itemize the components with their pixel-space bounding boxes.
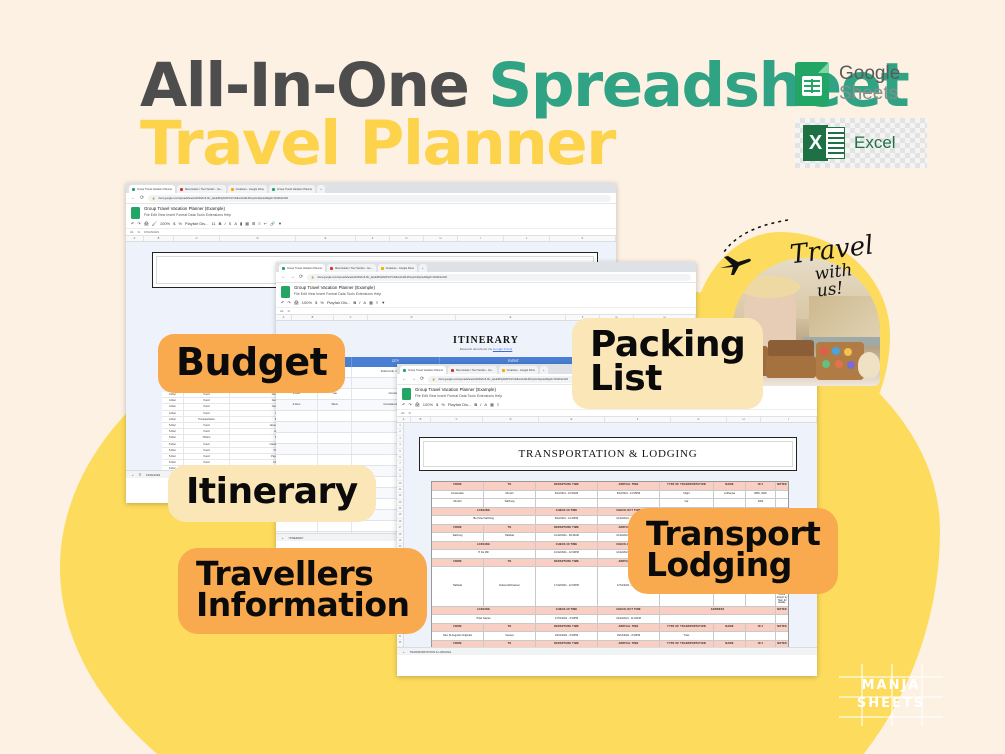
table-cell[interactable]: Food [184, 423, 230, 428]
table-cell[interactable]: 5-Dec [162, 448, 184, 453]
callout-label-travellers-line2: Information [196, 585, 409, 624]
table-cell[interactable]: Salzburg [484, 499, 536, 507]
table-cell[interactable]: Transportation [184, 417, 230, 422]
filter-icon[interactable]: ▼ [381, 300, 385, 305]
table-cell[interactable] [318, 532, 352, 533]
transport-banner: TRANSPORTATION & LODGING [419, 437, 797, 471]
column-header[interactable]: ADDRESS [660, 607, 776, 615]
table-cell[interactable]: 4-Dec [162, 417, 184, 422]
table-cell[interactable]: Food [184, 404, 230, 409]
column-header[interactable]: CHECK-IN TIME [536, 508, 598, 516]
table-cell[interactable]: 5-Dec [162, 435, 184, 440]
document-title[interactable]: Group Travel Vacation Planner (Example) [294, 285, 381, 290]
column-header[interactable]: DEPARTURE TIME [536, 525, 598, 533]
bold-icon[interactable]: B [353, 300, 356, 305]
table-cell[interactable]: IB+ Hotel Salzburg [432, 516, 536, 524]
table-cell[interactable]: Others [184, 435, 230, 440]
font-select[interactable]: Playfair Dis... [448, 402, 472, 407]
column-header[interactable]: TYPE OF TRANSPORTATION [660, 624, 714, 632]
watermark-line-1: MANJA [862, 677, 921, 695]
forward-icon[interactable]: → [411, 376, 416, 382]
table-cell[interactable]: 8/12/2021 - 12:00PM [536, 516, 598, 524]
table-cell[interactable] [776, 491, 788, 499]
table-cell[interactable]: 19/12/2021 - 11:00PM [598, 615, 660, 623]
table-row[interactable]: Hotel Savoie17/12/2021 - 3:00PM19/12/202… [432, 615, 788, 624]
excel-icon: X [803, 125, 845, 161]
name-box[interactable]: A1 [401, 411, 405, 415]
table-cell[interactable] [276, 422, 318, 432]
column-header[interactable]: NOTES [776, 607, 788, 615]
table-cell[interactable]: Hotel Savoie [432, 615, 536, 623]
browser-tab[interactable]: Group Travel Vacation Planner [279, 264, 325, 272]
title-line-two: Travel Planner [140, 116, 908, 172]
add-sheet-icon[interactable]: + [132, 473, 134, 477]
table-cell[interactable] [276, 532, 318, 533]
sheets-header: Group Travel Vacation Planner (Example) … [276, 283, 696, 298]
table-cell[interactable]: 5-Dec [162, 429, 184, 434]
browser-tab[interactable]: Creatives - Google Drive [378, 264, 417, 272]
formula-input[interactable]: FINANCES [144, 230, 159, 234]
excel-label: Excel [854, 133, 896, 153]
table-cell[interactable]: Food [184, 448, 230, 453]
table-row[interactable]: AmsterdamMunich8/12/2021 - 10:50AM8/12/2… [432, 491, 788, 500]
table-cell[interactable] [276, 521, 318, 531]
brand-logos: Google Sheets X Excel [795, 62, 927, 168]
align-icon[interactable]: ≡ [258, 221, 260, 226]
table-cell[interactable] [318, 433, 352, 443]
currency-icon[interactable]: $ [315, 300, 317, 305]
travel-with-us-script: Travel with us! [789, 230, 900, 303]
table-cell[interactable]: 4-Dec [162, 411, 184, 416]
text-color-icon[interactable]: A [484, 402, 487, 407]
browser-url-bar[interactable]: ← → ⟳ 🔒 docs.google.com/spreadsheets/d/1… [276, 272, 696, 283]
back-icon[interactable]: ← [281, 274, 286, 280]
browser-tab[interactable]: Group Travel Vacation Planner [269, 185, 315, 193]
url-text: docs.google.com/spreadsheets/d/160An5-f4… [438, 378, 568, 381]
table-cell[interactable]: 19/12/2021 - 6:00PM [598, 632, 660, 640]
callout-badge-packing[interactable]: Packing List [572, 318, 763, 409]
column-header[interactable]: ID # [746, 482, 776, 490]
menu-bar[interactable]: File Edit View Insert Format Data Tools … [294, 292, 381, 296]
table-header-row[interactable]: LODGINGCHECK-IN TIMECHECK-OUT TIMEADDRES… [432, 607, 788, 616]
table-cell[interactable] [776, 632, 788, 640]
callout-label-budget: Budget [158, 334, 345, 393]
paint-icon[interactable]: 🖌 [152, 221, 157, 226]
name-box[interactable]: A1 [130, 230, 134, 234]
browser-tab[interactable]: Creatives - Google Drive [499, 366, 538, 374]
table-cell[interactable]: 4-Dec [276, 400, 318, 410]
column-header[interactable]: NOTES [776, 482, 788, 490]
table-row[interactable]: MunichSalzburgCar2900 [432, 499, 788, 508]
table-cell[interactable]: Food [184, 442, 230, 447]
formula-bar[interactable]: A1 fx [397, 410, 817, 417]
borders-icon[interactable]: ▦ [490, 402, 494, 407]
sheets-label: Sheets [839, 84, 891, 104]
google-sheets-icon [795, 62, 829, 106]
table-cell[interactable] [276, 433, 318, 443]
column-header[interactable]: NAME [714, 624, 746, 632]
callout-label-transport-line2: Lodging [646, 545, 792, 584]
column-header[interactable]: LODGING [432, 508, 536, 516]
url-text: docs.google.com/spreadsheets/d/160An5-f4… [317, 276, 447, 279]
column-header[interactable]: TYPE OF TRANSPORTATION [660, 641, 714, 647]
table-cell[interactable]: Cannes [484, 632, 536, 640]
redo-icon[interactable]: ↷ [287, 300, 290, 305]
document-title[interactable]: Group Travel Vacation Planner (Example) [144, 206, 231, 211]
zoom-select[interactable]: 100% [302, 300, 312, 305]
table-header-row[interactable]: FROMTODEPARTURE TIMEARRIVAL TIMETYPE OF … [432, 641, 788, 647]
merge-icon[interactable]: ⊞ [252, 221, 255, 226]
borders-icon[interactable]: ▦ [369, 300, 373, 305]
filter-icon[interactable]: ▼ [278, 221, 282, 226]
browser-tab[interactable]: Best Hotels / Tour Verden - Go... [177, 185, 225, 193]
browser-url-bar[interactable]: ← ⟳ 🔒 docs.google.com/spreadsheets/d/160… [126, 193, 616, 204]
airplane-icon [718, 248, 754, 278]
currency-icon[interactable]: $ [436, 402, 438, 407]
link-icon[interactable]: 🔗 [270, 221, 275, 226]
table-cell[interactable] [318, 455, 352, 465]
column-header[interactable]: ARRIVAL TIME [598, 624, 660, 632]
table-cell[interactable] [276, 411, 318, 421]
callout-badge-itinerary[interactable]: Itinerary [168, 465, 376, 522]
column-header[interactable]: DEPARTURE TIME [536, 559, 598, 567]
table-cell[interactable]: Hallstatt [432, 567, 484, 606]
table-cell[interactable] [318, 422, 352, 432]
formula-bar[interactable]: A1 fx [276, 308, 696, 315]
sheet-tab-strip[interactable]: + TRANSPORTATION & LODGING [397, 647, 817, 655]
callout-badge-transport[interactable]: Transport Lodging [628, 508, 838, 594]
column-header[interactable]: CHECK-IN TIME [536, 607, 598, 615]
table-cell[interactable]: Car [660, 499, 714, 507]
percent-icon[interactable]: % [178, 221, 182, 226]
table-cell[interactable] [536, 499, 598, 507]
table-cell[interactable]: Munich [484, 491, 536, 499]
table-cell[interactable]: 2900 [746, 499, 776, 507]
wrap-icon[interactable]: ↵ [264, 221, 267, 226]
new-tab-button[interactable]: + [317, 185, 325, 193]
document-title[interactable]: Group Travel Vacation Planner (Example) [415, 387, 502, 392]
table-cell[interactable]: Lufthansa [714, 491, 746, 499]
column-header[interactable]: DEPARTURE TIME [536, 482, 598, 490]
sheets-header: Group Travel Vacation Planner (Example) … [126, 204, 616, 219]
column-header[interactable]: TO [484, 641, 536, 647]
sheets-doc-icon [402, 388, 411, 400]
column-header[interactable]: ID # [746, 624, 776, 632]
menu-bar[interactable]: File Edit View Insert Format Data Tools … [415, 394, 502, 398]
table-cell[interactable]: 8/12/2021 - 12:05PM [598, 491, 660, 499]
browser-tab[interactable]: Best Hotels / Tour Verden - Go... [327, 264, 375, 272]
table-cell[interactable] [276, 455, 318, 465]
column-header[interactable]: LODGING [432, 542, 536, 550]
column-header[interactable]: NOTES [776, 641, 788, 647]
column-header[interactable]: NAME [714, 482, 746, 490]
poster-canvas: All-In-One Spreadsheet Travel Planner Go… [0, 0, 1005, 754]
currency-icon[interactable]: $ [173, 221, 175, 226]
print-icon[interactable]: 🖨 [415, 402, 420, 407]
table-cell[interactable] [598, 499, 660, 507]
table-cell[interactable] [746, 632, 776, 640]
excel-logo: X Excel [795, 118, 927, 168]
fx-icon: fx [138, 230, 140, 234]
column-header[interactable]: ID # [746, 641, 776, 647]
sheets-doc-icon [131, 207, 140, 219]
table-cell[interactable]: Food [184, 398, 230, 403]
table-cell[interactable] [318, 521, 352, 531]
browser-tab[interactable]: Creatives - Google Drive [228, 185, 267, 193]
column-header[interactable]: CHECK-IN TIME [536, 542, 598, 550]
add-sheet-icon[interactable]: + [282, 536, 284, 540]
browser-tab[interactable]: Best Hotels / Tour Verden - Go... [448, 366, 496, 374]
column-header[interactable]: DEPARTURE TIME [536, 624, 598, 632]
forward-icon[interactable]: → [290, 274, 295, 280]
table-cell[interactable]: Food [184, 454, 230, 459]
table-header-row[interactable]: FROMTODEPARTURE TIMEARRIVAL TIMETYPE OF … [432, 482, 788, 491]
sheet-tab-transport[interactable]: TRANSPORTATION & LODGING [410, 650, 452, 654]
borders-icon[interactable]: ▦ [245, 221, 249, 226]
reload-icon[interactable]: ⟳ [140, 195, 144, 201]
table-cell[interactable] [714, 499, 746, 507]
table-cell[interactable]: H De Mill [432, 550, 536, 558]
strikethrough-icon[interactable]: S [229, 221, 232, 226]
table-cell[interactable] [776, 499, 788, 507]
column-header[interactable]: DEPARTURE TIME [536, 641, 598, 647]
table-cell[interactable]: 17/12/2021 - 3:00PM [536, 615, 598, 623]
column-header[interactable]: FROM [432, 624, 484, 632]
back-icon[interactable]: ← [402, 376, 407, 382]
table-cell[interactable]: Salzburg [432, 533, 484, 541]
table-cell[interactable] [714, 632, 746, 640]
column-header[interactable]: NAME [714, 641, 746, 647]
undo-icon[interactable]: ↶ [281, 300, 284, 305]
sheet-tab-itinerary[interactable]: ITINERARY [289, 536, 304, 540]
table-cell[interactable]: 10/12/2021 - 12:00PM [536, 550, 598, 558]
table-cell[interactable]: 4-Dec [162, 398, 184, 403]
table-cell[interactable] [776, 615, 788, 623]
table-cell[interactable]: 17/12/2021 - 12:00PM [536, 567, 598, 606]
zoom-select[interactable]: 100% [160, 221, 170, 226]
text-color-icon[interactable]: A [363, 300, 366, 305]
lock-icon: 🔒 [311, 276, 314, 279]
column-header[interactable]: TO [484, 559, 536, 567]
italic-icon[interactable]: I [480, 402, 481, 407]
column-header[interactable]: FROM [432, 641, 484, 647]
table-header-row[interactable]: FROMTODEPARTURE TIMEARRIVAL TIMETYPE OF … [432, 624, 788, 633]
lock-icon: 🔒 [432, 378, 435, 381]
address-input[interactable]: 🔒 docs.google.com/spreadsheets/d/160An5-… [307, 274, 691, 281]
table-cell[interactable]: 5-Dec [162, 442, 184, 447]
table-cell[interactable]: 10/12/2021 - 09:30AM [536, 533, 598, 541]
align-icon[interactable]: ≡ [497, 402, 499, 407]
table-cell[interactable]: Train [660, 632, 714, 640]
bold-icon[interactable]: B [474, 402, 477, 407]
table-cell[interactable]: Flight [660, 491, 714, 499]
reload-icon[interactable]: ⟳ [420, 376, 424, 382]
table-cell[interactable]: 5-Dec [162, 423, 184, 428]
fill-color-icon[interactable]: ▮ [240, 221, 242, 226]
address-input[interactable]: 🔒 docs.google.com/spreadsheets/d/160An5-… [148, 195, 611, 202]
callout-label-itinerary: Itinerary [168, 465, 376, 522]
browser-tab[interactable]: Group Travel Vacation Planner [129, 185, 175, 193]
table-cell[interactable] [276, 444, 318, 454]
text-color-icon[interactable]: A [234, 221, 237, 226]
sheets-doc-icon [281, 286, 290, 298]
browser-tab[interactable]: Group Travel Vacation Planner [400, 366, 446, 374]
fx-icon: fx [409, 411, 411, 415]
transport-banner-title: TRANSPORTATION & LODGING [423, 441, 793, 467]
table-cell[interactable] [660, 615, 776, 623]
back-icon[interactable]: ← [131, 195, 136, 201]
italic-icon[interactable]: I [359, 300, 360, 305]
italic-icon[interactable]: I [225, 221, 226, 226]
url-text: docs.google.com/spreadsheets/d/160An5-f4… [158, 197, 288, 200]
percent-icon[interactable]: % [441, 402, 445, 407]
table-cell[interactable]: 4-Dec [162, 404, 184, 409]
table-cell[interactable]: 6850, 3620 [746, 491, 776, 499]
callout-badge-budget[interactable]: Budget [158, 334, 345, 393]
column-header[interactable]: NOTES [776, 624, 788, 632]
all-sheets-icon[interactable]: ☰ [139, 473, 142, 477]
column-header[interactable]: TO [484, 624, 536, 632]
font-select[interactable]: Playfair Dis... [185, 221, 209, 226]
table-cell[interactable]: Food [184, 411, 230, 416]
callout-label-packing-line2: List [590, 358, 662, 399]
column-header[interactable]: TO [484, 482, 536, 490]
zoom-select[interactable]: 100% [423, 402, 433, 407]
table-cell[interactable]: 19/12/2021 - 5:00PM [536, 632, 598, 640]
menu-bar[interactable]: File Edit View Insert Format Data Tools … [144, 213, 231, 217]
column-header[interactable]: LODGING [432, 607, 536, 615]
brand-watermark: MANJA SHEETS [839, 664, 943, 726]
callout-badge-travellers[interactable]: Travellers Information [178, 548, 427, 634]
font-size[interactable]: 11 [211, 221, 215, 226]
font-select[interactable]: Playfair Dis... [327, 300, 351, 305]
table-cell[interactable]: Amsterdam [432, 491, 484, 499]
browser-tab-bar[interactable]: Group Travel Vacation Planner Best Hotel… [276, 262, 696, 272]
fx-icon: fx [288, 309, 290, 313]
google-travel-link[interactable]: Google Travel [493, 347, 513, 351]
bold-icon[interactable]: B [219, 221, 222, 226]
print-icon[interactable]: 🖨 [294, 300, 299, 305]
column-header[interactable]: ARRIVAL TIME [598, 641, 660, 647]
new-tab-button[interactable]: + [419, 264, 427, 272]
table-cell[interactable] [318, 411, 352, 421]
table-cell[interactable]: 5-Dec [162, 454, 184, 459]
table-cell[interactable]: Munich [432, 499, 484, 507]
column-header[interactable]: CHECK-OUT TIME [598, 607, 660, 615]
page-title: All-In-One Spreadsheet Travel Planner [140, 58, 908, 172]
sheet-tab-finances[interactable]: FINANCES [146, 473, 160, 477]
sheets-toolbar[interactable]: ↶ ↷ 🖨 100% $ % Playfair Dis... B I A ▦ ≡… [276, 298, 696, 308]
column-header[interactable]: ARRIVAL TIME [598, 482, 660, 490]
subtitle-prefix: Research attractions via [460, 347, 493, 351]
reload-icon[interactable]: ⟳ [299, 274, 303, 280]
table-cell[interactable] [318, 444, 352, 454]
align-icon[interactable]: ≡ [376, 300, 378, 305]
redo-icon[interactable]: ↷ [137, 221, 140, 226]
table-row[interactable]: Nice St Augustin OriginalsCannes19/12/20… [432, 632, 788, 641]
redo-icon[interactable]: ↷ [408, 402, 411, 407]
column-header[interactable]: TO [484, 525, 536, 533]
table-cell[interactable]: Food [184, 429, 230, 434]
formula-bar[interactable]: A1 fx FINANCES [126, 229, 616, 236]
table-cell[interactable]: 8/12/2021 - 10:50AM [536, 491, 598, 499]
table-cell[interactable]: Hallstatt [484, 533, 536, 541]
watermark-line-2: SHEETS [857, 695, 925, 713]
new-tab-button[interactable]: + [540, 366, 548, 374]
column-header[interactable]: TYPE OF TRANSPORTATION [660, 482, 714, 490]
sheets-toolbar[interactable]: ↶ ↷ 🖨 🖌 100% $ % Playfair Dis... 11 B I … [126, 219, 616, 229]
lock-icon: 🔒 [152, 197, 155, 200]
percent-icon[interactable]: % [320, 300, 324, 305]
table-cell[interactable]: Wed [318, 400, 352, 410]
column-header[interactable]: FROM [432, 525, 484, 533]
google-sheets-logo: Google Sheets [795, 62, 927, 106]
add-sheet-icon[interactable]: + [403, 650, 405, 654]
name-box[interactable]: A1 [280, 309, 284, 313]
google-label: Google [839, 64, 891, 84]
column-header[interactable]: FROM [432, 482, 484, 490]
undo-icon[interactable]: ↶ [402, 402, 405, 407]
table-cell[interactable]: Nice St Augustin Originals [432, 632, 484, 640]
undo-icon[interactable]: ↶ [131, 221, 134, 226]
browser-tab-bar[interactable]: Group Travel Vacation Planner Best Hotel… [126, 183, 616, 193]
print-icon[interactable]: 🖨 [144, 221, 149, 226]
table-cell[interactable]: Dubrovnik/Kvarner [484, 567, 536, 606]
column-header[interactable]: FROM [432, 559, 484, 567]
